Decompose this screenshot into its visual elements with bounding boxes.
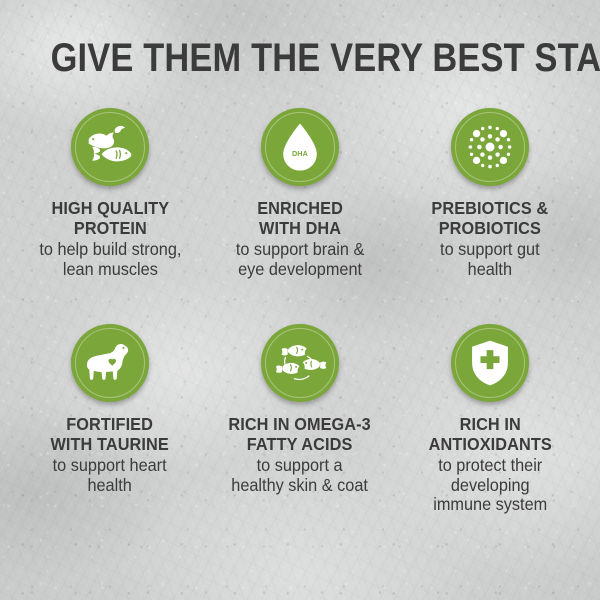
page-title: GIVE THEM THE VERY BEST START (51, 0, 550, 78)
benefit-item-rich-in-omega-3: RICH IN OMEGA-3 FATTY ACIDS to support a… (208, 324, 392, 538)
dha-icon-label: DHA (292, 149, 309, 158)
dha-droplet-icon: DHA (272, 119, 328, 175)
infographic-poster: GIVE THEM THE VERY BEST START (0, 0, 600, 600)
benefit-icon-badge (261, 324, 339, 402)
benefit-icon-badge (71, 108, 149, 186)
benefits-grid: HIGH QUALITY PROTEIN to help build stron… (10, 108, 590, 538)
three-fish-icon (272, 335, 328, 391)
benefit-subtitle: to support gut health (432, 240, 549, 279)
benefit-title: PREBIOTICS & PROBIOTICS (432, 199, 549, 238)
benefit-caption: PREBIOTICS & PROBIOTICS to support gut h… (427, 199, 553, 279)
benefit-caption: RICH IN ANTIOXIDANTS to protect their de… (424, 415, 556, 515)
benefit-title: HIGH QUALITY PROTEIN (39, 199, 181, 238)
probiotic-dots-icon (462, 119, 518, 175)
benefit-subtitle: to support a healthy skin & coat (229, 456, 371, 495)
benefit-caption: ENRICHED WITH DHA to support brain & eye… (231, 199, 369, 279)
benefit-item-fortified-with-taurine: FORTIFIED WITH TAURINE to support heart … (18, 324, 202, 538)
benefit-subtitle: to support brain & eye development (236, 240, 364, 279)
dog-heart-icon (82, 335, 138, 391)
benefit-subtitle: to support heart health (51, 456, 169, 495)
benefit-item-prebiotics-probiotics: PREBIOTICS & PROBIOTICS to support gut h… (398, 108, 582, 322)
benefit-title: RICH IN ANTIOXIDANTS (428, 415, 551, 454)
benefit-item-enriched-with-dha: DHA ENRICHED WITH DHA to support brain &… (208, 108, 392, 322)
benefit-caption: RICH IN OMEGA-3 FATTY ACIDS to support a… (223, 415, 376, 495)
benefit-title: FORTIFIED WITH TAURINE (51, 415, 169, 454)
fish-protein-icon (82, 119, 138, 175)
benefit-icon-badge (451, 324, 529, 402)
benefit-caption: HIGH QUALITY PROTEIN to help build stron… (34, 199, 187, 279)
benefit-caption: FORTIFIED WITH TAURINE to support heart … (46, 415, 173, 495)
benefit-subtitle: to protect their developing immune syste… (428, 456, 551, 515)
shield-cross-icon (462, 335, 518, 391)
benefit-subtitle: to help build strong, lean muscles (39, 240, 181, 279)
benefit-icon-badge (71, 324, 149, 402)
benefit-title: ENRICHED WITH DHA (236, 199, 364, 238)
benefit-icon-badge (451, 108, 529, 186)
benefit-item-rich-in-antioxidants: RICH IN ANTIOXIDANTS to protect their de… (398, 324, 582, 538)
benefit-icon-badge: DHA (261, 108, 339, 186)
benefit-item-high-quality-protein: HIGH QUALITY PROTEIN to help build stron… (18, 108, 202, 322)
poster-content: GIVE THEM THE VERY BEST START (0, 0, 600, 600)
benefit-title: RICH IN OMEGA-3 FATTY ACIDS (229, 415, 371, 454)
